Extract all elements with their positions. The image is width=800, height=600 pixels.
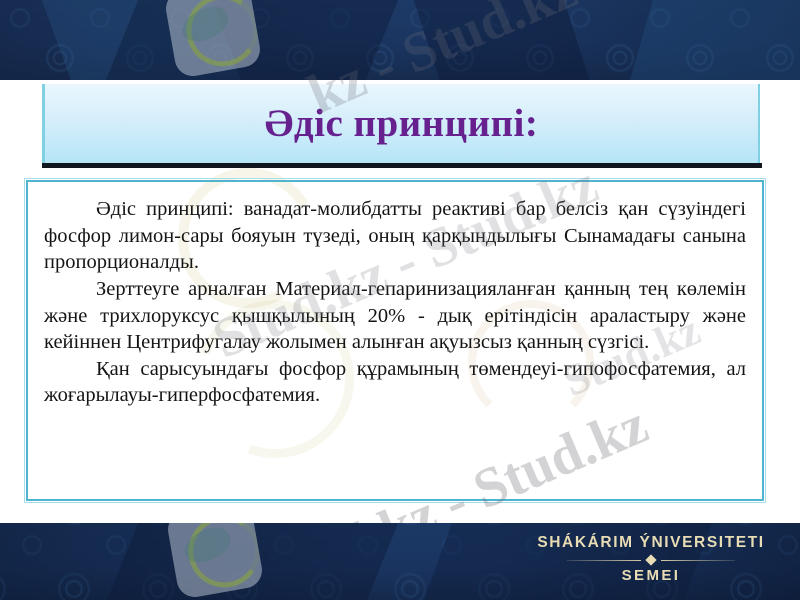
body-paragraph-2: Зерттеуге арналған Материал-гепаринизаци… (44, 276, 746, 356)
title-underline-rule (42, 163, 762, 168)
university-name: SHÁKÁRIM ÝNIVERSITETI (520, 534, 782, 552)
page-title: Әдіс принципі: (265, 104, 539, 143)
content-frame: Әдіс принципі: ванадат-молибдатты реакти… (26, 180, 764, 501)
header-ornament-band (0, 0, 800, 80)
divider-rule-right (661, 560, 735, 561)
body-paragraph-1: Әдіс принципі: ванадат-молибдатты реакти… (44, 196, 746, 276)
university-logo: SHÁKÁRIM ÝNIVERSITETI SEMEI (520, 534, 782, 584)
diamond-icon (645, 554, 656, 565)
slide-canvas: Әдіс принципі: Әдіс принципі: ванадат-мо… (0, 0, 800, 600)
title-banner: Әдіс принципі: (42, 84, 760, 163)
university-city: SEMEI (520, 567, 782, 584)
body-paragraph-3: Қан сарысуындағы фосфор құрамының төменд… (44, 356, 746, 409)
logo-divider (520, 556, 782, 564)
divider-rule-left (567, 560, 641, 561)
